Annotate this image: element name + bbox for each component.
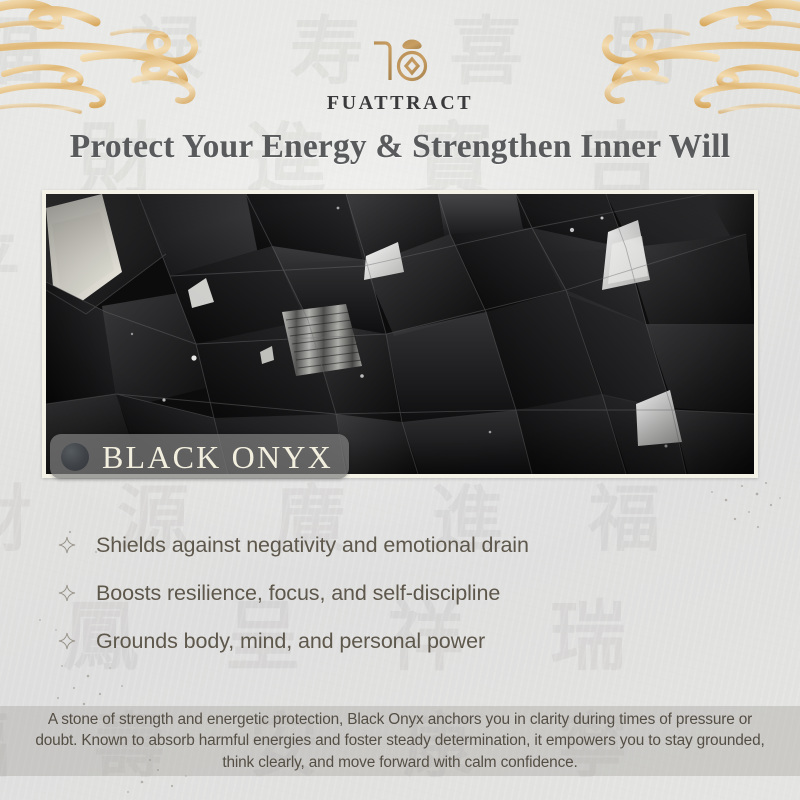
gem-name-badge: BLACK ONYX [50,434,349,479]
diamond-sparkle-icon [58,584,76,602]
list-item-label: Shields against negativity and emotional… [96,533,529,558]
poster-root: 福 禄 寿 喜 財 招 財 進 寶 吉 平 安 富 貴 康 順 心 如 意 祥 … [0,0,800,800]
page-title: Protect Your Energy & Strengthen Inner W… [0,128,800,166]
list-item-label: Boosts resilience, focus, and self-disci… [96,581,500,606]
gem-name-label: BLACK ONYX [102,441,333,473]
brand-block: FUATTRACT [0,30,800,113]
description-band: A stone of strength and energetic protec… [0,706,800,776]
crystal-facets-render [46,194,754,474]
list-item-label: Grounds body, mind, and personal power [96,629,485,654]
brand-name: FUATTRACT [0,93,800,113]
list-item: Boosts resilience, focus, and self-disci… [58,569,748,617]
list-item: Shields against negativity and emotional… [58,521,748,569]
black-onyx-crystal-cluster-photo [46,194,754,474]
diamond-sparkle-icon [58,536,76,554]
fu-seal-logo-icon [0,30,800,89]
benefits-list: Shields against negativity and emotional… [58,521,748,665]
description-text: A stone of strength and energetic protec… [26,709,774,774]
list-item: Grounds body, mind, and personal power [58,617,748,665]
diamond-sparkle-icon [58,632,76,650]
gem-color-swatch-icon [61,443,89,471]
